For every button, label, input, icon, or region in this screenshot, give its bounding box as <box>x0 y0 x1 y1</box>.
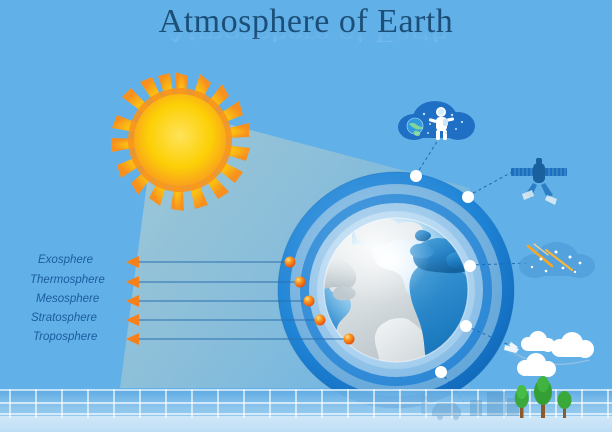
anchor-dot-thermosphere <box>462 191 474 203</box>
layer-label-mesosphere[interactable]: Mesosphere <box>36 293 99 305</box>
infographic-canvas: Atmosphere of Earth Atmosphere of Earth … <box>0 0 612 432</box>
anchor-dot-stratosphere <box>460 320 472 332</box>
atmosphere-illustration <box>0 0 612 432</box>
layer-label-exosphere[interactable]: Exosphere <box>38 254 93 266</box>
person-icon <box>421 395 427 414</box>
anchor-dot-exosphere <box>410 170 422 182</box>
anchor-dot-troposphere <box>435 366 447 378</box>
anchor-dot-mesosphere <box>464 260 476 272</box>
layer-label-troposphere[interactable]: Troposphere <box>33 331 97 343</box>
layer-label-stratosphere[interactable]: Stratosphere <box>31 312 97 324</box>
layer-label-thermosphere[interactable]: Thermosphere <box>30 274 105 286</box>
